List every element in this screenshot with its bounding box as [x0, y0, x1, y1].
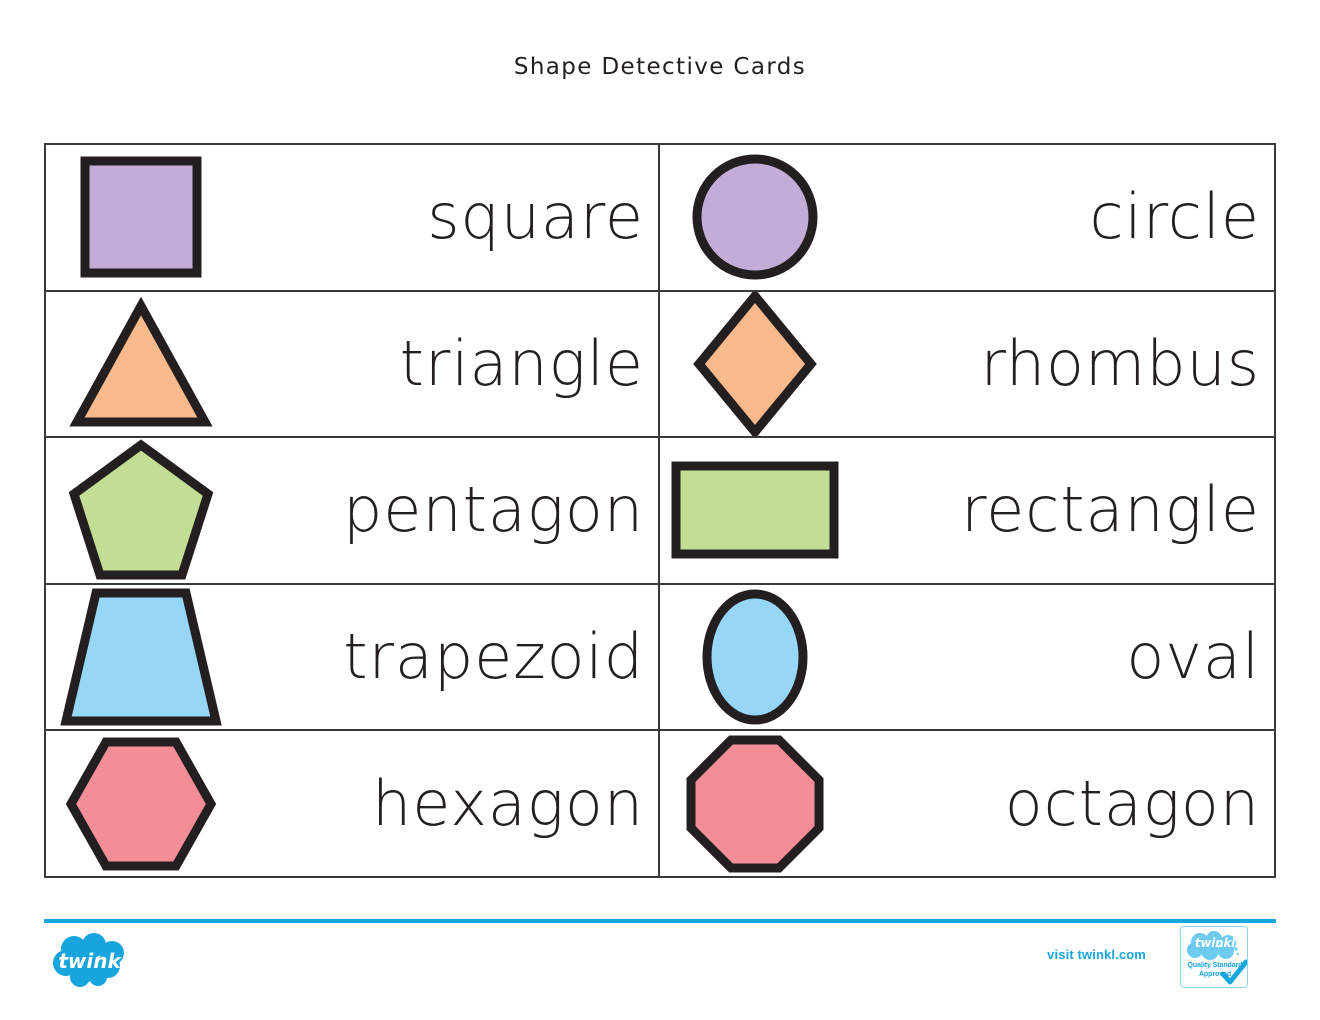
check-icon — [1219, 959, 1248, 988]
shape-label-triangle: triangle — [236, 333, 658, 395]
pentagon-shape — [46, 438, 236, 583]
shape-card-trapezoid[interactable]: trapezoid — [46, 585, 660, 730]
badge-brand-text: twinkl — [1181, 936, 1248, 950]
shape-card-triangle[interactable]: triangle — [46, 292, 660, 437]
table-row: triangle rhombus — [46, 292, 1274, 439]
shape-label-oval: oval — [850, 626, 1274, 688]
footer-divider — [44, 919, 1276, 923]
twinkl-logo-icon[interactable]: twinkl — [50, 933, 136, 989]
rhombus-shape — [660, 292, 850, 437]
shape-label-pentagon: pentagon — [236, 479, 658, 541]
triangle-shape — [46, 292, 236, 437]
page-title: Shape Detective Cards — [0, 0, 1320, 80]
shape-label-rectangle: rectangle — [850, 479, 1274, 541]
quality-standard-badge: twinkl Quality Standard Approved — [1180, 926, 1248, 988]
square-shape — [46, 145, 236, 290]
footer: twinkl visit twinkl.com twinkl Quality S… — [44, 925, 1276, 1005]
svg-text:twinkl: twinkl — [58, 949, 128, 973]
shape-card-circle[interactable]: circle — [660, 145, 1274, 290]
shape-label-hexagon: hexagon — [236, 773, 658, 835]
shape-label-rhombus: rhombus — [850, 333, 1274, 395]
shape-card-pentagon[interactable]: pentagon — [46, 438, 660, 583]
shape-label-octagon: octagon — [850, 773, 1274, 835]
oval-shape — [660, 585, 850, 730]
shape-card-square[interactable]: square — [46, 145, 660, 290]
shape-label-trapezoid: trapezoid — [236, 626, 658, 688]
shape-label-circle: circle — [850, 186, 1274, 248]
rectangle-shape — [660, 438, 850, 583]
shape-card-octagon[interactable]: octagon — [660, 731, 1274, 876]
octagon-shape — [660, 731, 850, 876]
table-row: pentagon rectangle — [46, 438, 1274, 585]
shape-label-square: square — [236, 186, 658, 248]
table-row: square circle — [46, 145, 1274, 292]
shape-cards-table: square circle triangle — [44, 143, 1276, 878]
shape-card-rectangle[interactable]: rectangle — [660, 438, 1274, 583]
shape-card-oval[interactable]: oval — [660, 585, 1274, 730]
hexagon-shape — [46, 731, 236, 876]
shape-card-hexagon[interactable]: hexagon — [46, 731, 660, 876]
circle-shape — [660, 145, 850, 290]
shape-card-rhombus[interactable]: rhombus — [660, 292, 1274, 437]
visit-twinkl-link[interactable]: visit twinkl.com — [1047, 947, 1146, 962]
table-row: hexagon octagon — [46, 731, 1274, 876]
table-row: trapezoid oval — [46, 585, 1274, 732]
trapezoid-shape — [46, 585, 236, 730]
